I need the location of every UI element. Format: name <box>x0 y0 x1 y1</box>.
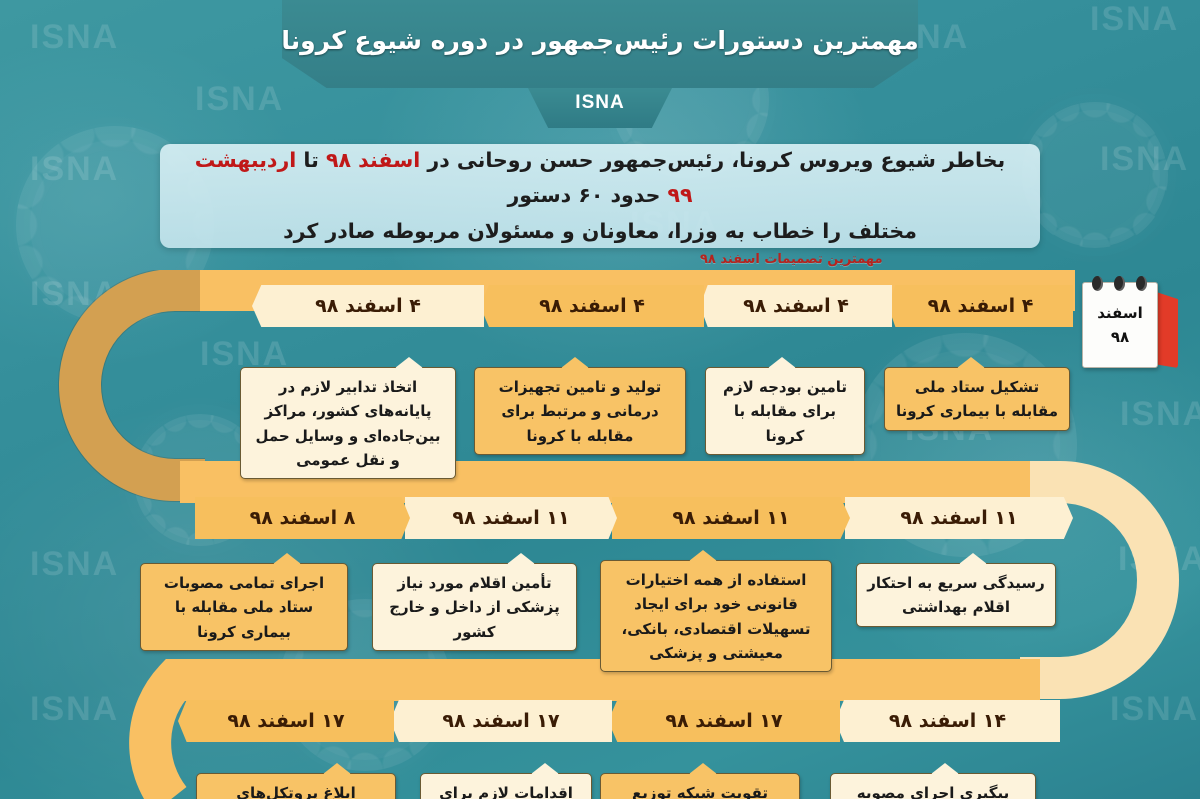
timeline-date-chip: ۱۷ اسفند ۹۸ <box>608 700 840 742</box>
timeline-date-label: ۱۱ اسفند ۹۸ <box>900 507 1017 529</box>
timeline-item-box: رسیدگی سریع به احتکار اقلام بهداشتی <box>856 563 1056 627</box>
isna-logo-tab: ISNA <box>528 88 672 128</box>
timeline-item-text: رسیدگی سریع به احتکار اقلام بهداشتی <box>867 574 1045 616</box>
timeline-date-label: ۴ اسفند ۹۸ <box>539 295 645 317</box>
intro-text-line2: مختلف را خطاب به وزرا، معاونان و مسئولان… <box>283 219 917 243</box>
intro-panel: بخاطر شیوع ویروس کرونا، رئیس‌جمهور حسن ر… <box>160 144 1040 248</box>
calendar-front-page: اسفند ۹۸ <box>1082 282 1158 368</box>
calendar-ring-icon <box>1092 276 1103 291</box>
timeline-date-chip: ۴ اسفند ۹۸ <box>700 285 892 327</box>
timeline-item-text: استفاده از همه اختیارات قانونی خود برای … <box>622 571 811 662</box>
calendar-month-label: اسفند <box>1097 304 1142 322</box>
timeline-item-text: تامین بودجه لازم برای مقابله با کرونا <box>723 378 847 445</box>
timeline-item-box: پیگیری اجرای مصوبه ستاد کرونا <box>830 773 1036 799</box>
timeline-item-box: ابلاغ پروتکل‌های بهداشتی <box>196 773 396 799</box>
page-title: مهمترین دستورات رئیس‌جمهور در دوره شیوع … <box>282 0 918 80</box>
timeline-date-label: ۱۱ اسفند ۹۸ <box>452 507 569 529</box>
timeline-date-label: ۱۱ اسفند ۹۸ <box>672 507 789 529</box>
timeline-item-box: اجرای تمامی مصوبات ستاد ملی مقابله با بی… <box>140 563 348 651</box>
timeline-date-chip: ۸ اسفند ۹۸ <box>195 497 410 539</box>
infographic-canvas: ISNA ISNA ISNA ISNA ISNA ISNA ISNA ISNA … <box>0 0 1200 799</box>
intro-text-a: بخاطر شیوع ویروس کرونا، رئیس‌جمهور حسن ر… <box>420 148 1005 172</box>
timeline-date-chip: ۴ اسفند ۹۸ <box>252 285 484 327</box>
timeline-date-chip: ۱۱ اسفند ۹۸ <box>405 497 617 539</box>
timeline-item-text: پیگیری اجرای مصوبه ستاد کرونا <box>857 784 1010 799</box>
timeline-date-label: ۱۷ اسفند ۹۸ <box>665 710 782 732</box>
timeline-date-chip: ۴ اسفند ۹۸ <box>480 285 704 327</box>
timeline-item-text: ابلاغ پروتکل‌های بهداشتی <box>236 784 355 799</box>
intro-date-start: اسفند ۹۸ <box>326 148 420 172</box>
timeline-item-box: استفاده از همه اختیارات قانونی خود برای … <box>600 560 832 672</box>
intro-paragraph: بخاطر شیوع ویروس کرونا، رئیس‌جمهور حسن ر… <box>182 143 1018 249</box>
timeline-date-chip: ۴ اسفند ۹۸ <box>888 285 1073 327</box>
intro-text-c: حدود ۶۰ دستور <box>507 183 667 207</box>
timeline-date-label: ۱۷ اسفند ۹۸ <box>227 710 344 732</box>
timeline-item-box: تقویت شبکه توزیع وسایل <box>600 773 800 799</box>
timeline-date-label: ۱۴ اسفند ۹۸ <box>889 710 1006 732</box>
timeline-item-text: اقدامات لازم برای <box>439 784 573 799</box>
timeline-item-text: اجرای تمامی مصوبات ستاد ملی مقابله با بی… <box>164 574 324 641</box>
timeline-date-chip: ۱۱ اسفند ۹۸ <box>612 497 850 539</box>
timeline-item-box: تامین بودجه لازم برای مقابله با کرونا <box>705 367 865 455</box>
timeline-item-text: تشکیل ستاد ملی مقابله با بیماری کرونا <box>896 378 1058 420</box>
timeline-date-chip: ۱۷ اسفند ۹۸ <box>390 700 612 742</box>
section-caption: مهمترین تصمیمات اسفند ۹۸ <box>700 252 1060 267</box>
timeline-item-text: تأمین اقلام مورد نیاز پزشکی از داخل و خا… <box>389 574 560 641</box>
timeline-date-label: ۴ اسفند ۹۸ <box>928 295 1034 317</box>
timeline-item-box: تشکیل ستاد ملی مقابله با بیماری کرونا <box>884 367 1070 431</box>
timeline-item-box: تأمین اقلام مورد نیاز پزشکی از داخل و خا… <box>372 563 577 651</box>
timeline-date-label: ۸ اسفند ۹۸ <box>250 507 356 529</box>
calendar-ring-icon <box>1136 276 1147 291</box>
timeline-item-text: تولید و تامین تجهیزات درمانی و مرتبط برا… <box>499 378 662 445</box>
header: مهمترین دستورات رئیس‌جمهور در دوره شیوع … <box>0 0 1200 140</box>
timeline-date-label: ۱۷ اسفند ۹۸ <box>442 710 559 732</box>
timeline-item-text: تقویت شبکه توزیع وسایل <box>632 784 768 799</box>
timeline-date-chip: ۱۴ اسفند ۹۸ <box>835 700 1060 742</box>
timeline-date-chip: ۱۷ اسفند ۹۸ <box>178 700 394 742</box>
calendar-ring-icon <box>1114 276 1125 291</box>
timeline-item-box: اتخاذ تدابیر لازم در پایانه‌های کشور، مر… <box>240 367 456 479</box>
calendar-icon: اسفند ۹۸ <box>1078 272 1186 374</box>
timeline-item-text: اتخاذ تدابیر لازم در پایانه‌های کشور، مر… <box>255 378 440 469</box>
timeline-date-label: ۴ اسفند ۹۸ <box>743 295 849 317</box>
timeline-item-box: اقدامات لازم برای <box>420 773 592 799</box>
timeline-date-chip: ۱۱ اسفند ۹۸ <box>845 497 1073 539</box>
timeline-item-box: تولید و تامین تجهیزات درمانی و مرتبط برا… <box>474 367 686 455</box>
intro-text-b: تا <box>296 148 326 172</box>
timeline-date-label: ۴ اسفند ۹۸ <box>315 295 421 317</box>
isna-logo-text: ISNA <box>528 88 672 118</box>
calendar-year-label: ۹۸ <box>1111 328 1129 346</box>
